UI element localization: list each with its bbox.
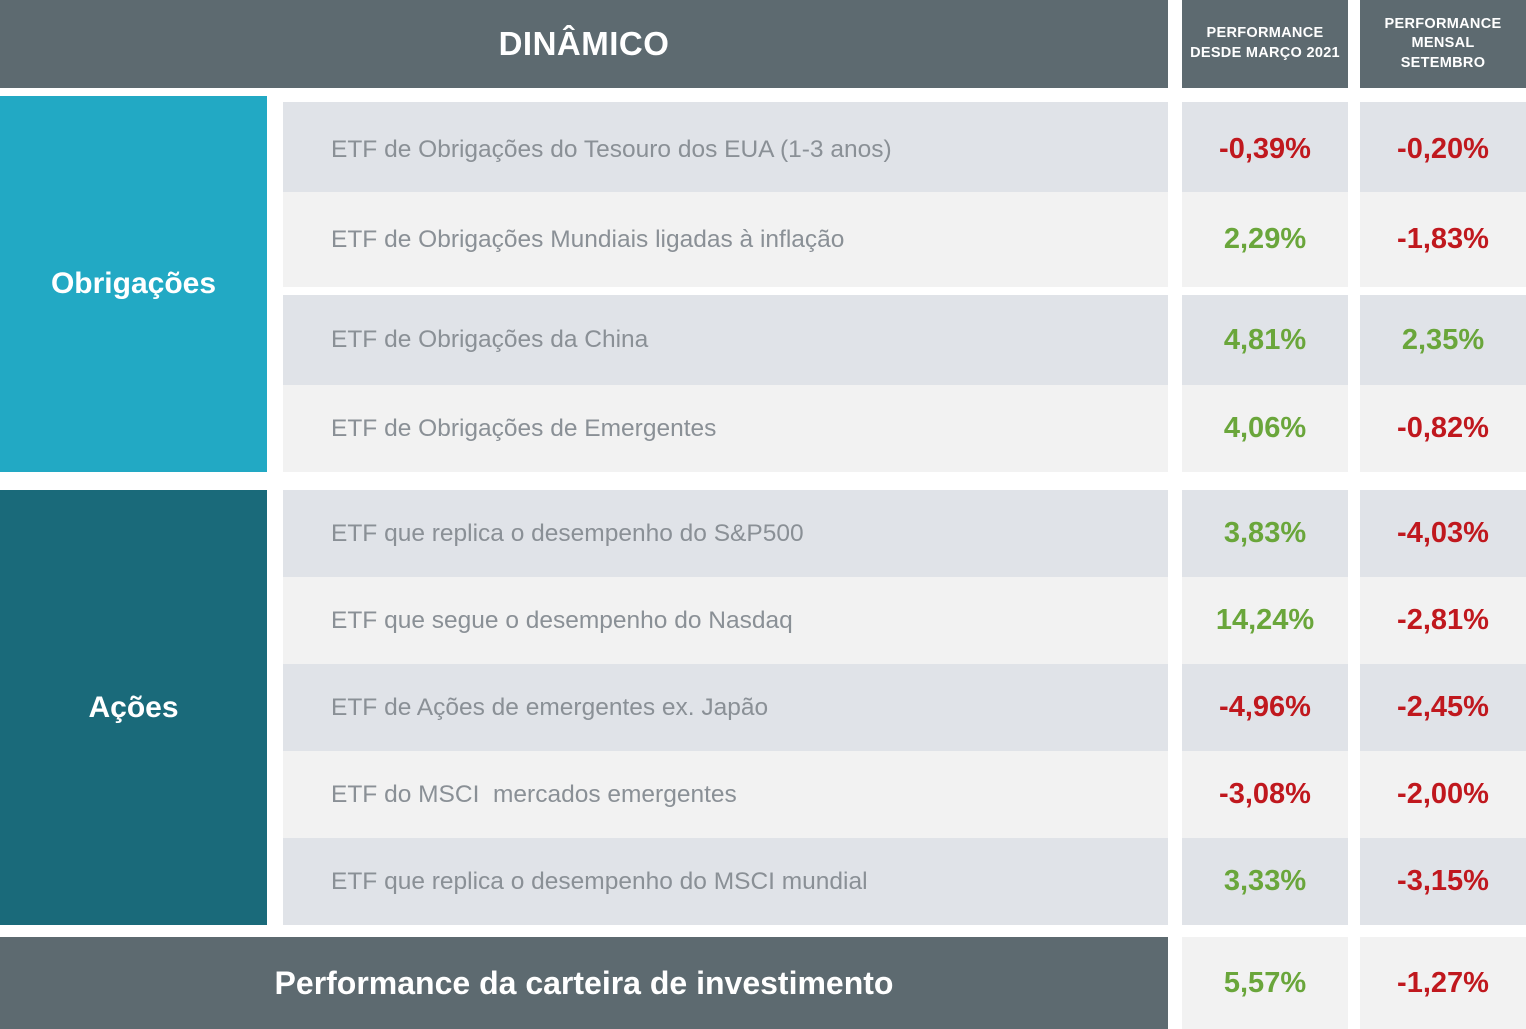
row-value-since: 3,83% — [1224, 517, 1306, 550]
table-row[interactable]: ETF do MSCI mercados emergentes -3,08% -… — [0, 751, 1526, 838]
row-label: ETF que replica o desempenho do S&P500 — [331, 520, 804, 548]
performance-table: DINÂMICO PERFORMANCE DESDE MARÇO 2021 PE… — [0, 0, 1526, 1029]
row-label-cell: ETF que segue o desempenho do Nasdaq — [283, 577, 1168, 664]
footer-label: Performance da carteira de investimento — [275, 965, 894, 1002]
row-value-monthly: 2,35% — [1402, 324, 1484, 357]
row-value-monthly: -3,15% — [1397, 865, 1489, 898]
footer-value-monthly-cell: -1,27% — [1360, 937, 1526, 1029]
row-value-since-cell: 3,83% — [1182, 490, 1348, 577]
table-title-text: DINÂMICO — [499, 25, 670, 63]
row-value-since-cell: -4,96% — [1182, 664, 1348, 751]
row-label: ETF de Obrigações da China — [331, 326, 648, 354]
row-value-monthly-cell: -3,15% — [1360, 838, 1526, 925]
row-value-monthly-cell: -2,45% — [1360, 664, 1526, 751]
column-header-since-march: PERFORMANCE DESDE MARÇO 2021 — [1182, 0, 1348, 88]
row-value-monthly-cell: 2,35% — [1360, 295, 1526, 385]
row-label: ETF que replica o desempenho do MSCI mun… — [331, 868, 868, 896]
row-value-since: -3,08% — [1219, 778, 1311, 811]
table-footer: Performance da carteira de investimento … — [0, 937, 1526, 1029]
row-label: ETF que segue o desempenho do Nasdaq — [331, 607, 793, 635]
footer-value-since: 5,57% — [1224, 967, 1306, 1000]
row-label-cell: ETF de Obrigações Mundiais ligadas à inf… — [283, 192, 1168, 287]
row-value-since: 4,06% — [1224, 412, 1306, 445]
column-header-monthly: PERFORMANCE MENSAL SETEMBRO — [1360, 0, 1526, 88]
table-row[interactable]: ETF que replica o desempenho do MSCI mun… — [0, 838, 1526, 925]
table-row[interactable]: ETF de Obrigações Mundiais ligadas à inf… — [0, 192, 1526, 287]
table-row[interactable]: ETF de Ações de emergentes ex. Japão -4,… — [0, 664, 1526, 751]
table-title: DINÂMICO — [0, 0, 1168, 88]
row-value-since: 14,24% — [1216, 604, 1314, 637]
table-header: DINÂMICO PERFORMANCE DESDE MARÇO 2021 PE… — [0, 0, 1526, 88]
row-value-monthly-cell: -0,20% — [1360, 102, 1526, 197]
row-value-since-cell: -0,39% — [1182, 102, 1348, 197]
row-value-monthly: -4,03% — [1397, 517, 1489, 550]
row-label-cell: ETF de Obrigações de Emergentes — [283, 385, 1168, 472]
row-value-monthly-cell: -2,00% — [1360, 751, 1526, 838]
row-value-monthly: -2,45% — [1397, 691, 1489, 724]
row-value-monthly: -2,81% — [1397, 604, 1489, 637]
row-value-since-cell: 3,33% — [1182, 838, 1348, 925]
row-value-since-cell: 2,29% — [1182, 192, 1348, 287]
row-label-cell: ETF que replica o desempenho do MSCI mun… — [283, 838, 1168, 925]
row-value-monthly-cell: -2,81% — [1360, 577, 1526, 664]
row-label: ETF de Obrigações de Emergentes — [331, 415, 716, 443]
row-value-since-cell: -3,08% — [1182, 751, 1348, 838]
table-row[interactable]: ETF que segue o desempenho do Nasdaq 14,… — [0, 577, 1526, 664]
row-value-since: 2,29% — [1224, 223, 1306, 256]
row-value-monthly-cell: -4,03% — [1360, 490, 1526, 577]
row-value-monthly-cell: -0,82% — [1360, 385, 1526, 472]
row-value-monthly: -0,20% — [1397, 133, 1489, 166]
table-row[interactable]: ETF que replica o desempenho do S&P500 3… — [0, 490, 1526, 577]
table-row[interactable]: ETF de Obrigações do Tesouro dos EUA (1-… — [0, 102, 1526, 197]
row-value-since-cell: 14,24% — [1182, 577, 1348, 664]
footer-label-cell: Performance da carteira de investimento — [0, 937, 1168, 1029]
row-label: ETF de Obrigações Mundiais ligadas à inf… — [331, 226, 844, 254]
row-label-cell: ETF de Obrigações da China — [283, 295, 1168, 385]
row-value-monthly: -1,83% — [1397, 223, 1489, 256]
row-label-cell: ETF que replica o desempenho do S&P500 — [283, 490, 1168, 577]
row-value-monthly: -0,82% — [1397, 412, 1489, 445]
row-value-since: -4,96% — [1219, 691, 1311, 724]
row-value-since: 4,81% — [1224, 324, 1306, 357]
column-header-since-march-text: PERFORMANCE DESDE MARÇO 2021 — [1190, 24, 1340, 63]
table-row[interactable]: ETF de Obrigações de Emergentes 4,06% -0… — [0, 385, 1526, 472]
row-label-cell: ETF de Obrigações do Tesouro dos EUA (1-… — [283, 102, 1168, 197]
row-value-monthly: -2,00% — [1397, 778, 1489, 811]
row-label: ETF de Obrigações do Tesouro dos EUA (1-… — [331, 136, 892, 164]
column-header-monthly-text: PERFORMANCE MENSAL SETEMBRO — [1368, 15, 1518, 74]
row-value-since-cell: 4,06% — [1182, 385, 1348, 472]
footer-value-since-cell: 5,57% — [1182, 937, 1348, 1029]
row-value-monthly-cell: -1,83% — [1360, 192, 1526, 287]
row-value-since: -0,39% — [1219, 133, 1311, 166]
row-label-cell: ETF de Ações de emergentes ex. Japão — [283, 664, 1168, 751]
row-value-since: 3,33% — [1224, 865, 1306, 898]
footer-value-monthly: -1,27% — [1397, 967, 1489, 1000]
row-label: ETF do MSCI mercados emergentes — [331, 781, 737, 809]
table-row[interactable]: ETF de Obrigações da China 4,81% 2,35% — [0, 295, 1526, 385]
row-label-cell: ETF do MSCI mercados emergentes — [283, 751, 1168, 838]
row-value-since-cell: 4,81% — [1182, 295, 1348, 385]
row-label: ETF de Ações de emergentes ex. Japão — [331, 694, 768, 722]
